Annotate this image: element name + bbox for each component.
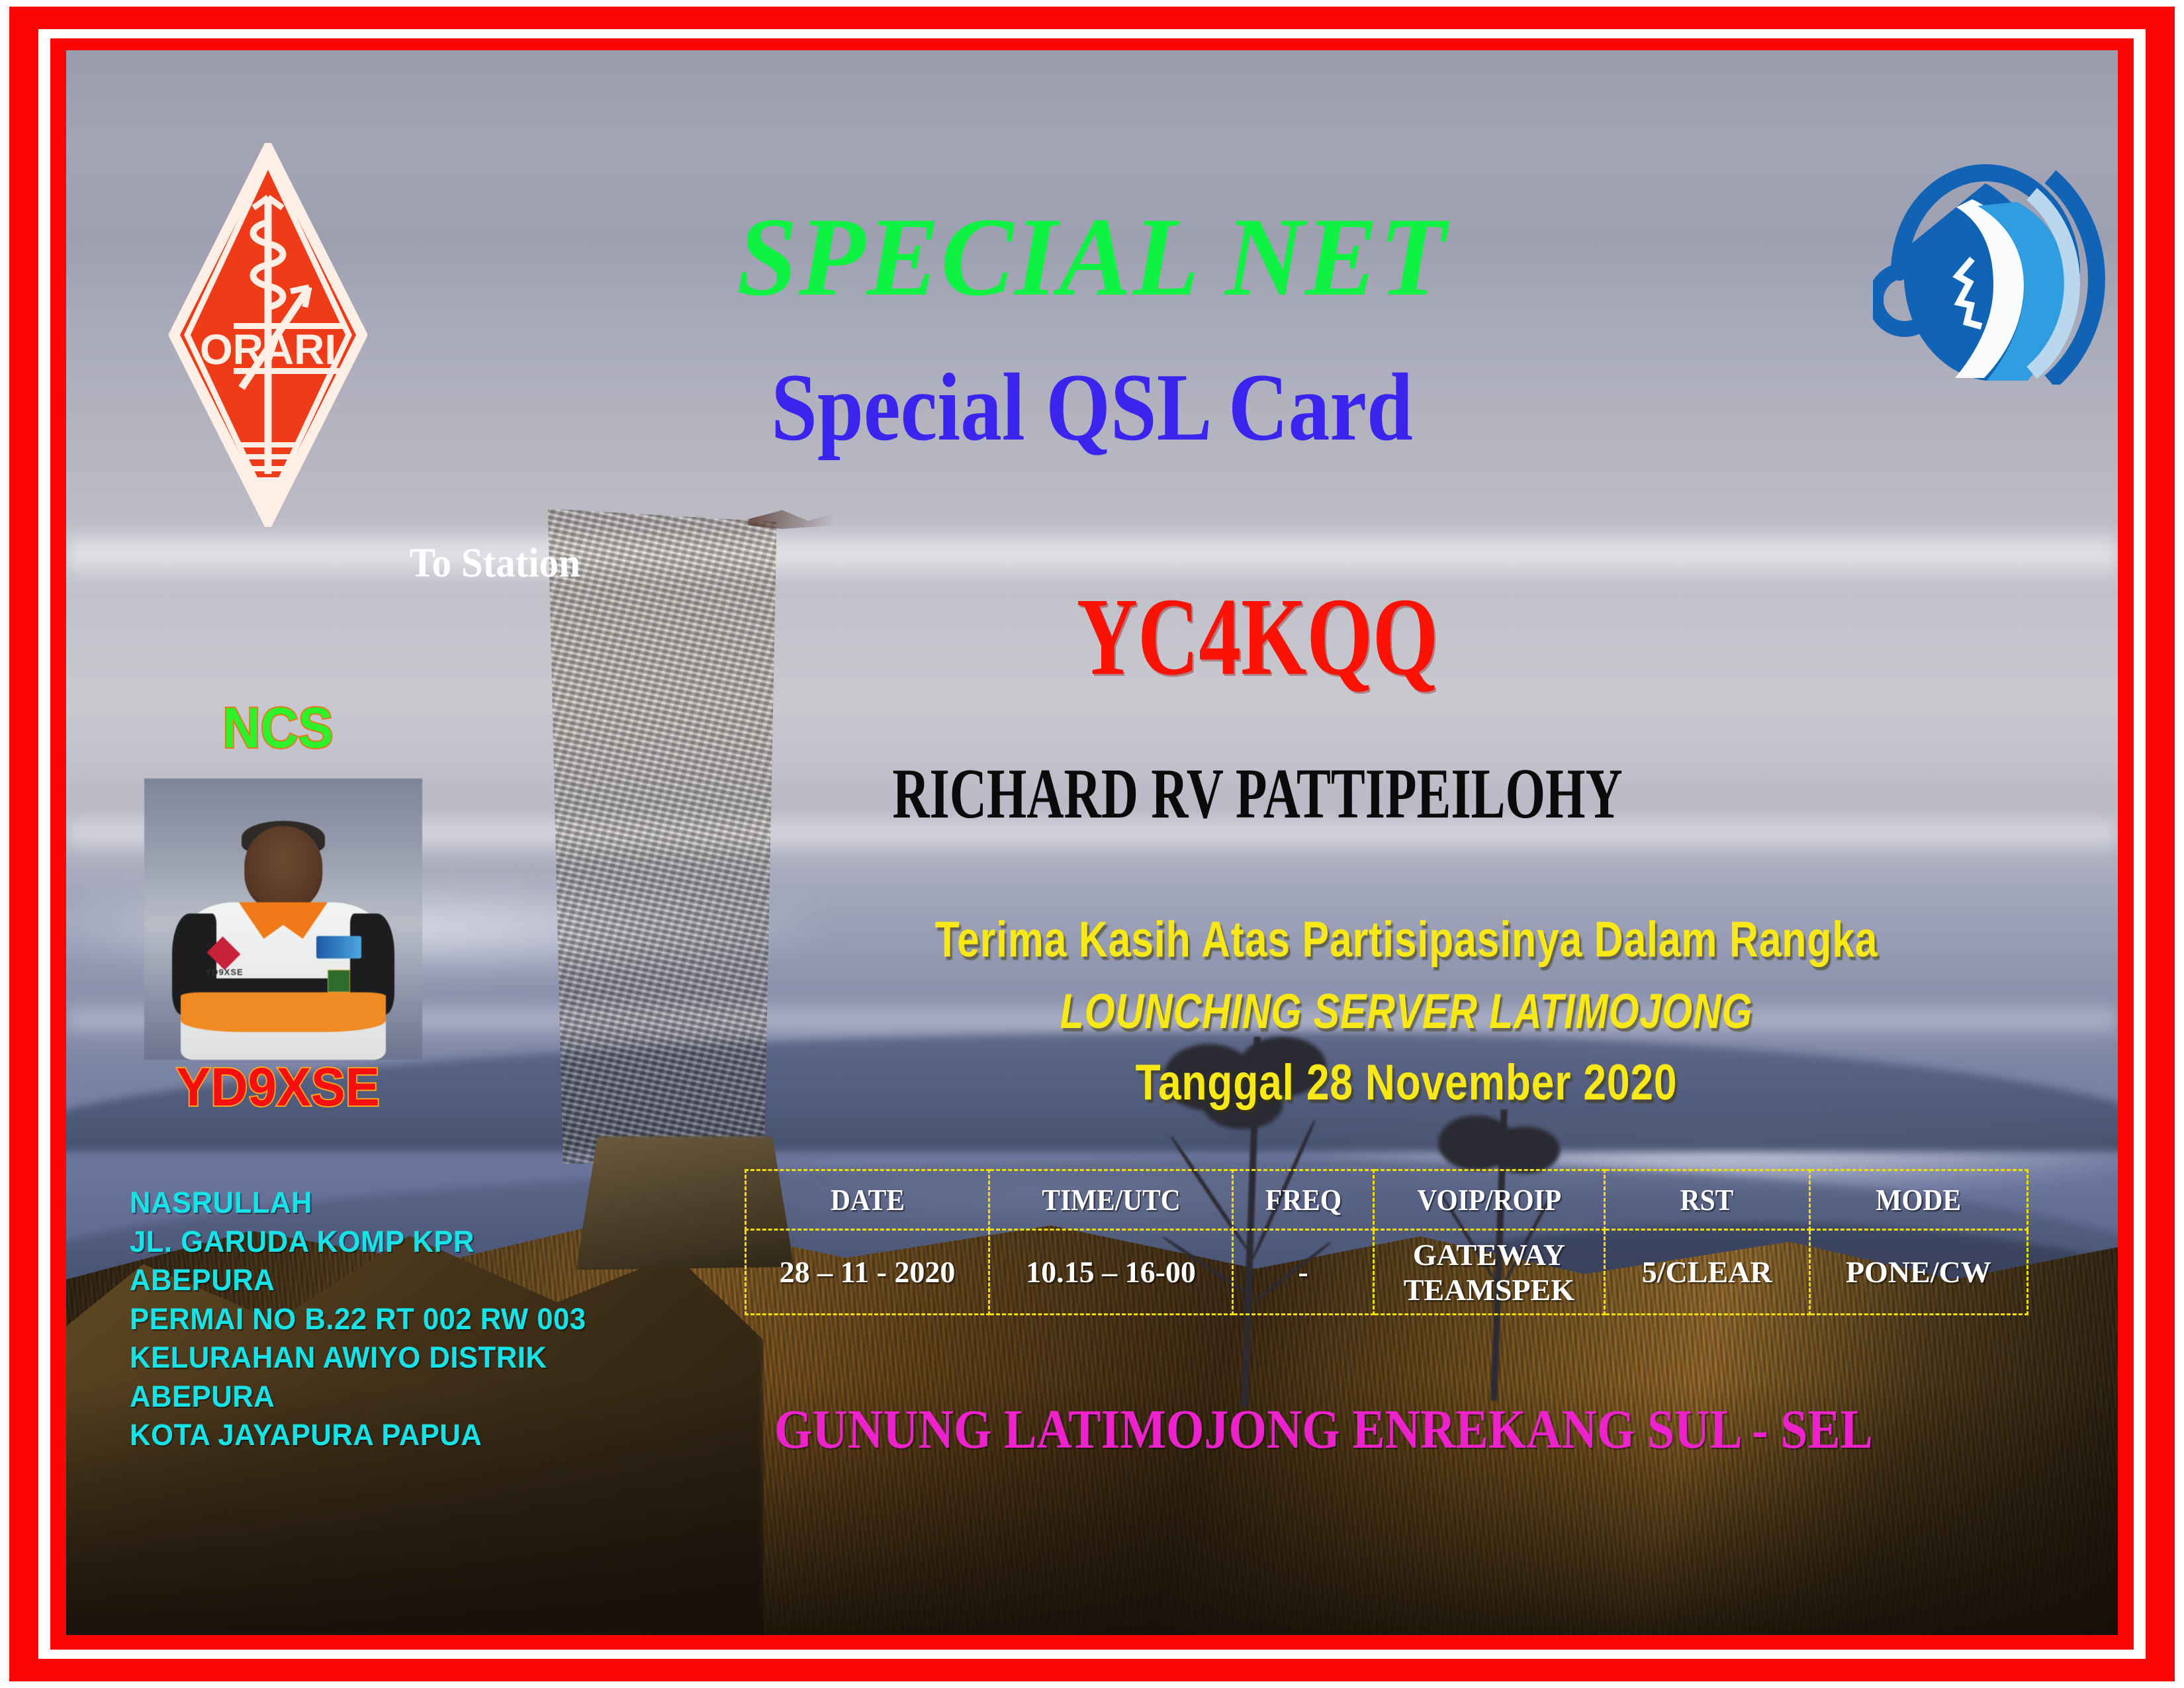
ncs-label: NCS	[181, 696, 375, 761]
cell-time: 10.15 – 16-00	[989, 1230, 1233, 1315]
ncs-operator-avatar: YD9XSE	[144, 778, 422, 1060]
operator-name: RICHARD RV PATTIPEILOHY	[876, 753, 1639, 835]
station-address-block: NASRULLAH JL. GARUDA KOMP KPR ABEPURA PE…	[130, 1184, 699, 1455]
address-line: ABEPURA	[130, 1261, 682, 1300]
cell-voip: GATEWAY TEAMSPEK	[1374, 1230, 1605, 1315]
background-photograph: ORARI SPECIAL NET Special QSL Card	[66, 50, 2118, 1635]
address-line: ABEPURA	[130, 1378, 682, 1417]
cell-voip-line1: GATEWAY	[1375, 1237, 1604, 1272]
qso-details-table: DATE TIME/UTC FREQ VOIP/ROIP RST MODE 28…	[745, 1169, 2028, 1315]
location-line: GUNUNG LATIMOJONG ENREKANG SUL - SEL	[741, 1397, 1906, 1462]
event-text-block: Terima Kasih Atas Partisipasinya Dalam R…	[761, 911, 2052, 1111]
cell-date: 28 – 11 - 2020	[746, 1230, 989, 1315]
column-header-date: DATE	[758, 1170, 977, 1230]
ncs-callsign: YD9XSE	[140, 1056, 416, 1119]
cell-mode: PONE/CW	[1809, 1230, 2027, 1315]
address-line: PERMAI NO B.22 RT 002 RW 003	[130, 1300, 682, 1339]
avatar-id-tag	[328, 970, 350, 992]
to-station-label: To Station	[410, 540, 580, 587]
tree-canopy	[1490, 1127, 1560, 1173]
event-date-line: Tanggal 28 November 2020	[878, 1054, 1936, 1111]
address-line: JL. GARUDA KOMP KPR	[130, 1223, 682, 1262]
column-header-mode: MODE	[1821, 1170, 2017, 1230]
column-header-freq: FREQ	[1240, 1170, 1367, 1230]
stone-monument-pillar	[533, 495, 784, 1164]
thanks-line: Terima Kasih Atas Partisipasinya Dalam R…	[890, 911, 1923, 968]
web-address-text: Address : amatir.latimojong.com	[1394, 1626, 2060, 1635]
column-header-rst: RST	[1615, 1170, 1799, 1230]
stone-texture	[533, 495, 784, 1164]
cell-freq: -	[1233, 1230, 1374, 1315]
page-title: SPECIAL NET	[97, 193, 2087, 322]
event-line: LOUNCHING SERVER LATIMOJONG	[890, 983, 1923, 1039]
avatar-patch-right	[316, 936, 361, 959]
page-subtitle: Special QSL Card	[210, 352, 1974, 463]
station-callsign: YC4KQQ	[931, 573, 1584, 701]
table-row: 28 – 11 - 2020 10.15 – 16-00 - GATEWAY T…	[746, 1230, 2028, 1315]
qsl-card: ORARI SPECIAL NET Special QSL Card	[0, 0, 2184, 1688]
slogan-text: "AMATIR RADIO ADALAH PROGRESIVE"	[189, 1626, 1208, 1635]
cell-rst: 5/CLEAR	[1604, 1230, 1809, 1315]
column-header-time: TIME/UTC	[1001, 1170, 1220, 1230]
table-header-row: DATE TIME/UTC FREQ VOIP/ROIP RST MODE	[746, 1170, 2028, 1230]
address-line: KELURAHAN AWIYO DISTRIK	[130, 1338, 682, 1378]
avatar-sash	[181, 992, 387, 1032]
address-line: KOTA JAYAPURA PAPUA	[130, 1416, 682, 1455]
cell-voip-line2: TEAMSPEK	[1375, 1272, 1604, 1307]
column-header-voip: VOIP/ROIP	[1385, 1170, 1593, 1230]
address-line: NASRULLAH	[130, 1184, 682, 1223]
avatar-head	[244, 826, 322, 911]
avatar-shirt-callsign: YD9XSE	[205, 967, 243, 977]
